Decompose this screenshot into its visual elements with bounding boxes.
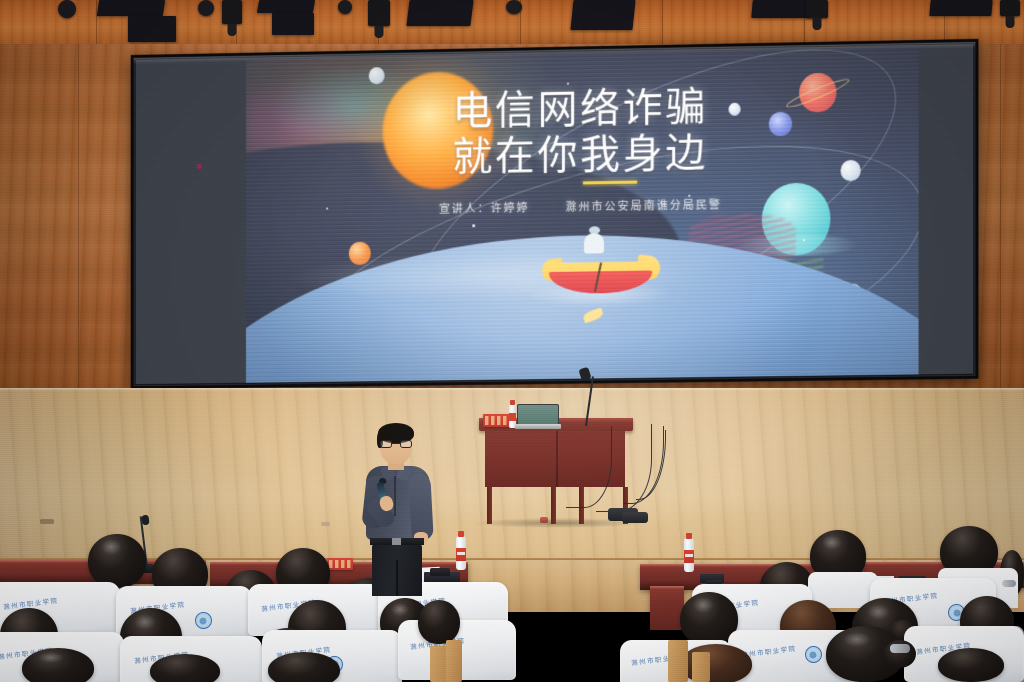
chair-frame bbox=[668, 640, 688, 682]
eyeglasses-icon bbox=[380, 440, 412, 448]
auditorium-photo: 电信网络诈骗 就在你我身边 宣讲人：许婷婷 滁州市公安局南谯分局民警 bbox=[0, 0, 1024, 682]
desk-nameplate bbox=[483, 414, 511, 427]
screen-dead-pixel bbox=[197, 164, 202, 169]
projection-screen[interactable]: 电信网络诈骗 就在你我身边 宣讲人：许婷婷 滁州市公安局南谯分局民警 bbox=[131, 39, 979, 389]
cable-adapter-box bbox=[622, 512, 648, 523]
table-nameplate bbox=[327, 558, 353, 570]
presenter[interactable] bbox=[352, 420, 444, 596]
water-bottle[interactable] bbox=[456, 536, 466, 570]
floor-mark bbox=[321, 522, 330, 526]
trouser-seam bbox=[396, 560, 398, 596]
panel-light-icon bbox=[929, 0, 992, 16]
panel-light-icon bbox=[128, 16, 176, 42]
audience-head bbox=[938, 648, 1004, 682]
belt-buckle bbox=[392, 538, 401, 545]
gooseneck-microphone[interactable] bbox=[576, 368, 598, 426]
audience-head bbox=[22, 648, 94, 682]
speaker-icon bbox=[338, 0, 352, 14]
audience-head bbox=[418, 600, 460, 644]
presentation-slide: 电信网络诈骗 就在你我身边 宣讲人：许婷婷 滁州市公安局南谯分局民警 bbox=[246, 47, 919, 383]
stage-light-icon bbox=[222, 0, 242, 24]
speaker-icon bbox=[506, 0, 522, 14]
school-emblem-icon bbox=[195, 612, 212, 629]
stage-light-icon bbox=[1000, 0, 1020, 16]
microphone-stem bbox=[585, 376, 594, 426]
panel-light-icon bbox=[406, 0, 473, 26]
audience-head bbox=[88, 534, 146, 588]
chair-frame bbox=[692, 652, 710, 682]
water-bottle[interactable] bbox=[684, 538, 694, 572]
desk-leg bbox=[487, 487, 492, 524]
panel-light-icon bbox=[97, 0, 165, 16]
stage-light-icon bbox=[368, 0, 390, 26]
chair-frame bbox=[446, 640, 462, 682]
microphone-head bbox=[578, 367, 591, 382]
laptop-screen bbox=[517, 404, 559, 425]
audience-head bbox=[150, 654, 220, 682]
stage-light-icon bbox=[806, 0, 828, 18]
audience-table-side bbox=[650, 586, 684, 630]
hair-accessory bbox=[1002, 580, 1016, 587]
hair-accessory bbox=[890, 644, 910, 653]
audience-head bbox=[680, 644, 752, 682]
laptop-keyboard[interactable] bbox=[515, 424, 561, 429]
panel-light-icon bbox=[257, 0, 315, 13]
school-emblem-icon bbox=[805, 646, 822, 663]
floor-mark bbox=[40, 519, 54, 524]
shirt-placket bbox=[394, 476, 396, 516]
audience-head bbox=[268, 652, 340, 682]
panel-light-icon bbox=[272, 13, 314, 35]
slide-vignette bbox=[246, 47, 919, 383]
desk-leg bbox=[551, 487, 556, 524]
stage-floor-edge bbox=[0, 388, 1024, 391]
laptop[interactable] bbox=[515, 404, 561, 428]
speaker-icon bbox=[58, 0, 76, 18]
speaker-icon bbox=[198, 0, 214, 16]
desk-drawer-seam bbox=[556, 431, 558, 487]
presenter-right-arm bbox=[408, 473, 433, 540]
panel-light-icon bbox=[570, 0, 635, 30]
